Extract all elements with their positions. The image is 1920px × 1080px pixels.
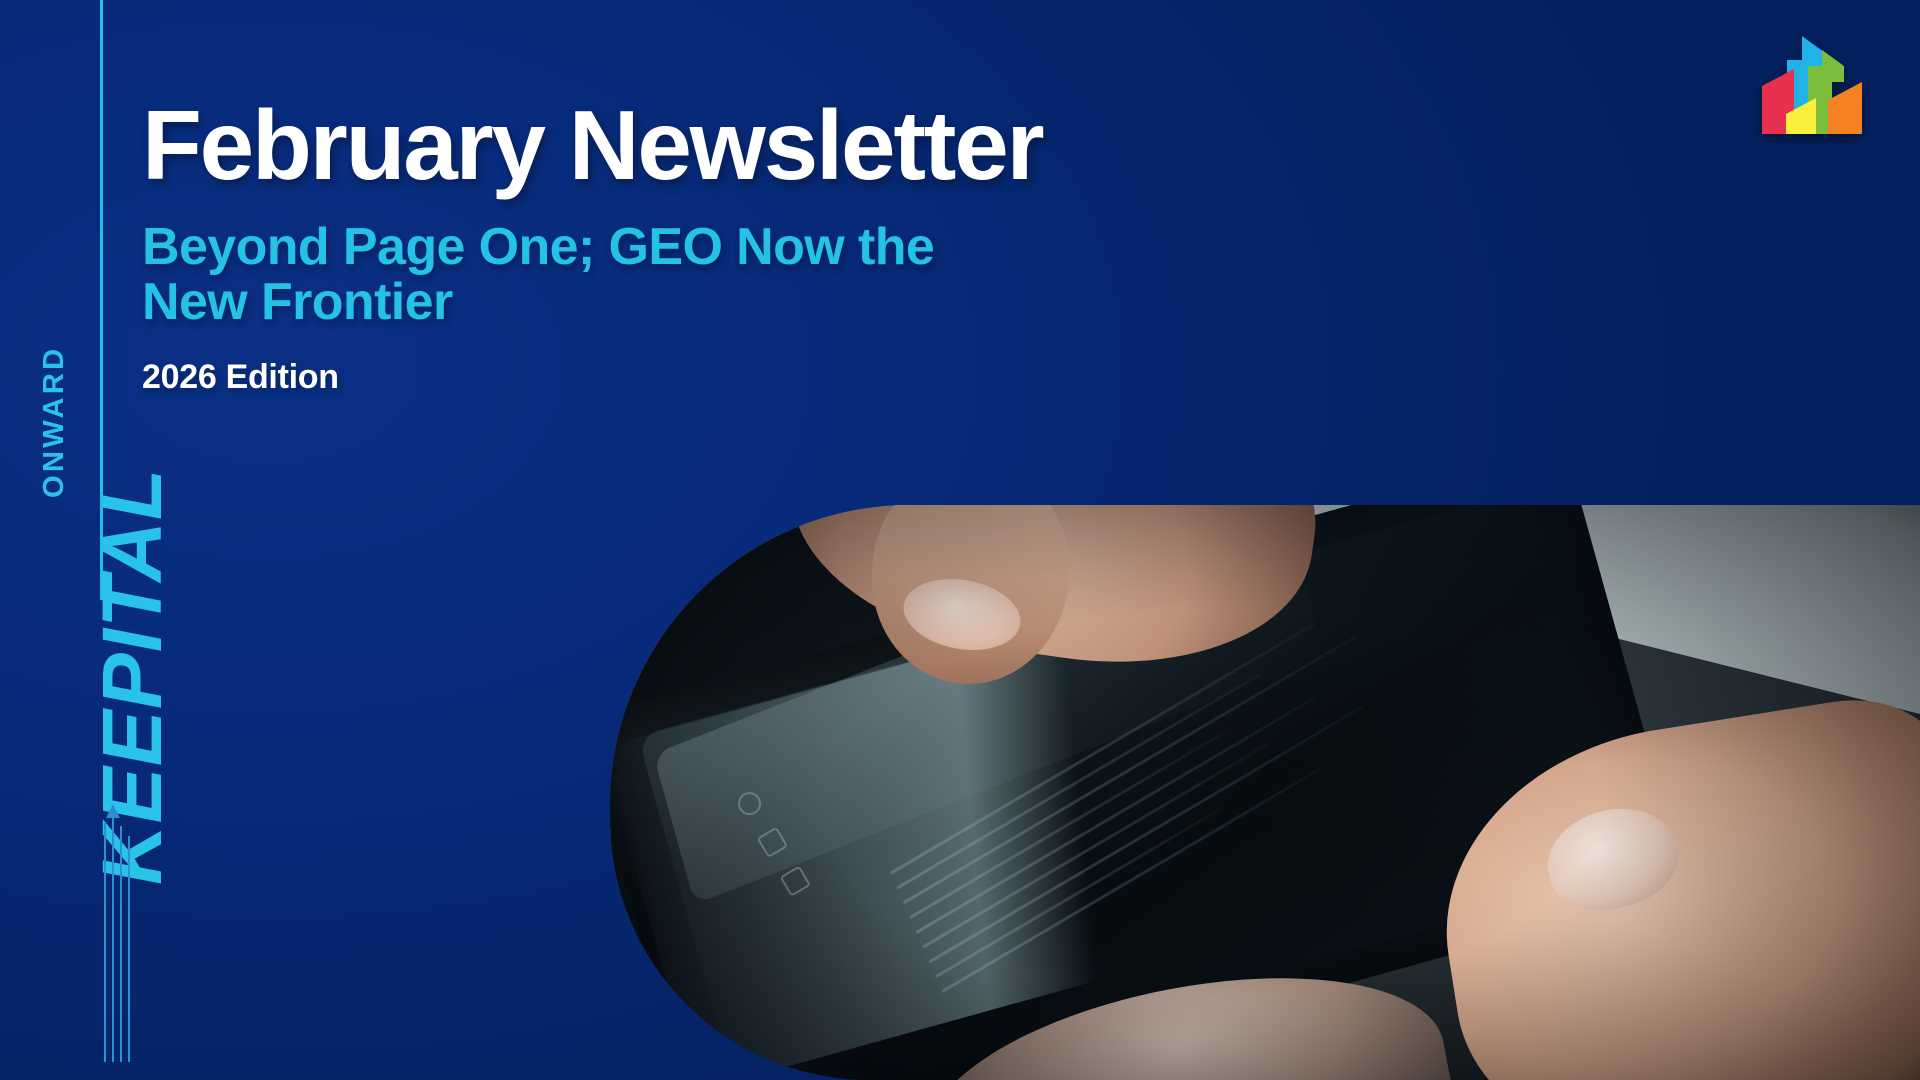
- subtitle-line-1: Beyond Page One; GEO Now the: [142, 218, 934, 276]
- page-title: February Newsletter: [142, 96, 1292, 194]
- keepital-logo-icon: [1746, 22, 1878, 148]
- subtitle-line-2: New Frontier: [142, 273, 453, 331]
- upward-arrow-lines-icon: [96, 796, 146, 1068]
- hero-text-block: February Newsletter Beyond Page One; GEO…: [142, 96, 1292, 397]
- page-subtitle: Beyond Page One; GEO Now the New Frontie…: [142, 220, 1032, 330]
- cyan-vertical-rule: [100, 0, 103, 600]
- hero-photo: [610, 505, 1920, 1080]
- edition-label: 2026 Edition: [142, 358, 1292, 397]
- newsletter-cover: February Newsletter Beyond Page One; GEO…: [0, 0, 1920, 1080]
- brand-tagline: ONWARD: [38, 345, 71, 498]
